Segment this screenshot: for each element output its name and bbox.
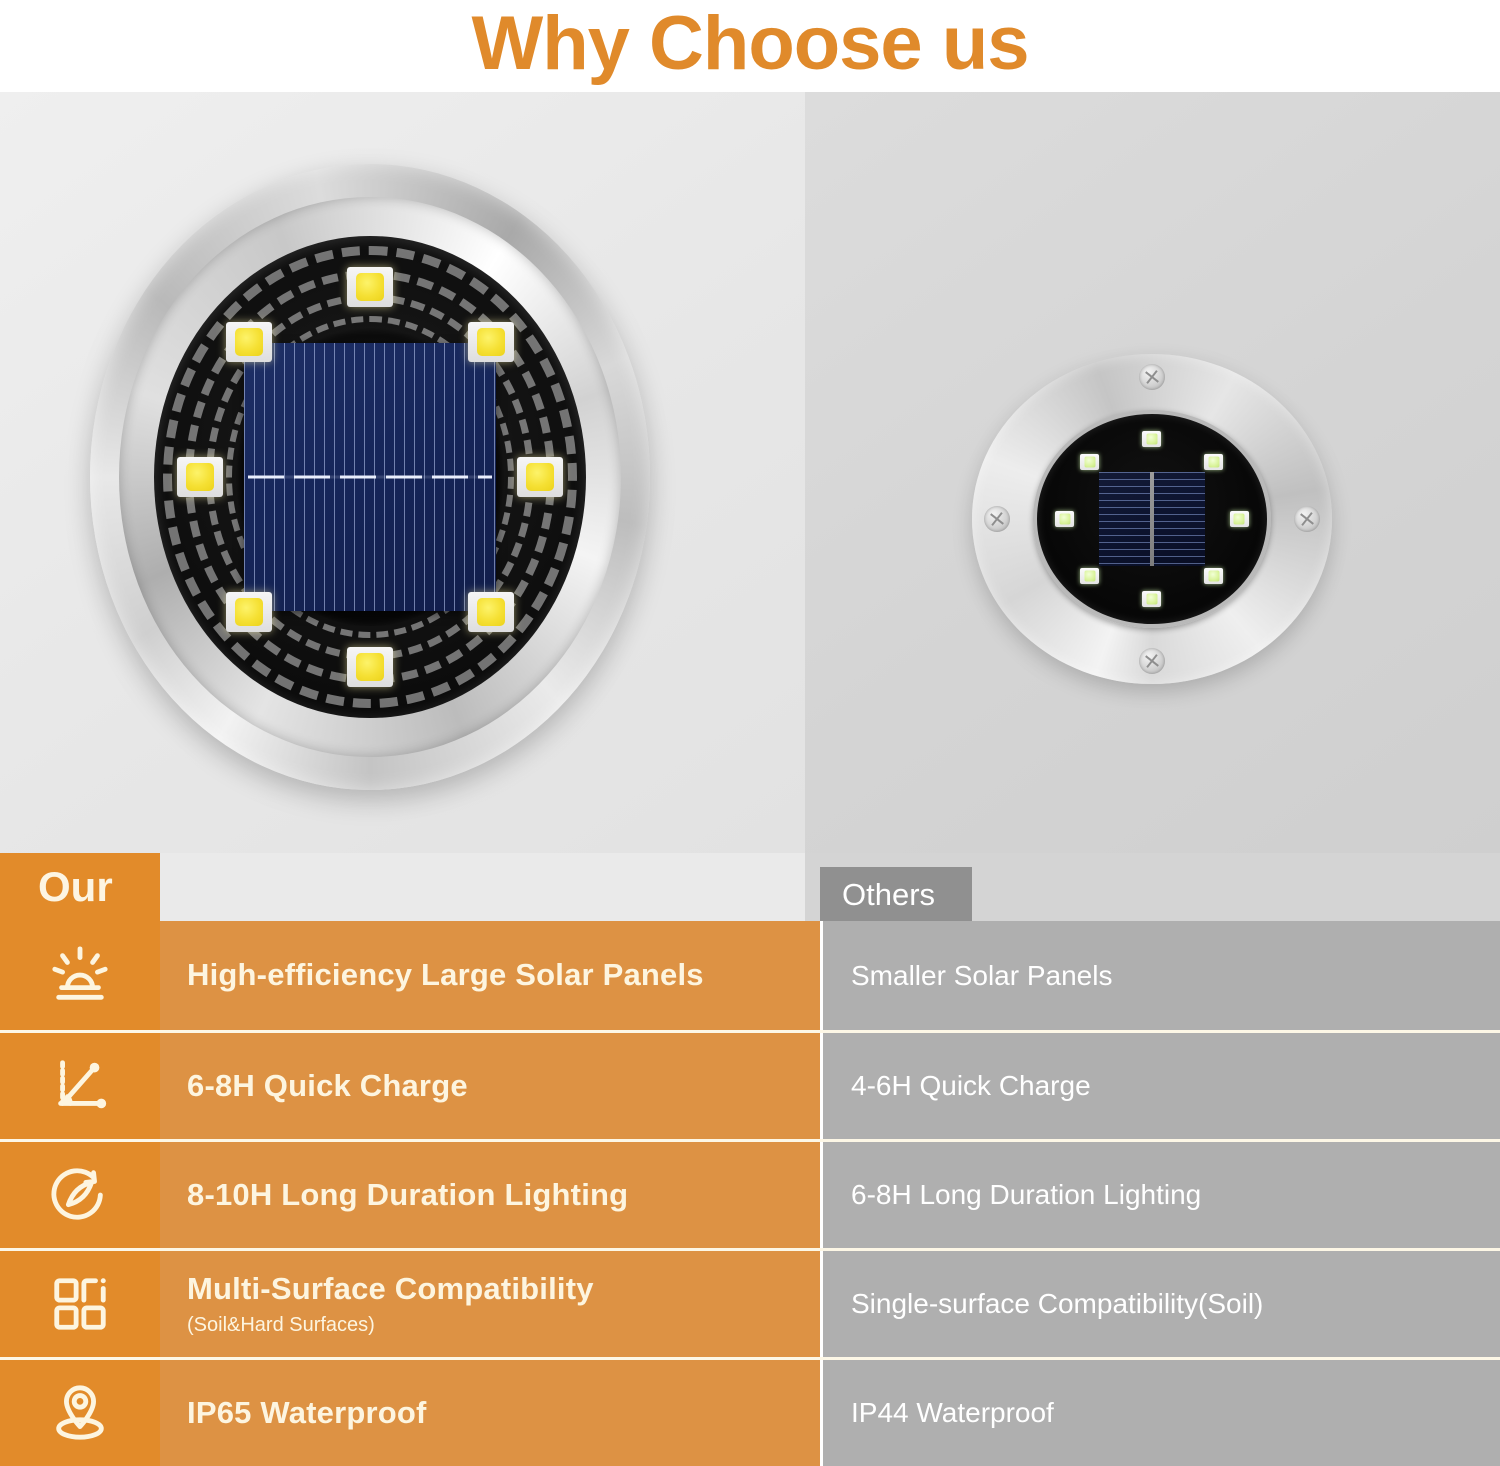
our-product-graphic: [90, 164, 650, 790]
our-feature-text: 8-10H Long Duration Lighting: [187, 1177, 820, 1214]
led-chip: [468, 322, 514, 362]
our-feature-text: High-efficiency Large Solar Panels: [187, 957, 820, 994]
header-spacer-right-b: [972, 853, 1500, 921]
others-cell: 4-6H Quick Charge: [820, 1033, 1500, 1139]
page-title: Why Choose us: [471, 6, 1028, 82]
location-pin-icon: [49, 1382, 111, 1444]
led-chip: [1080, 568, 1099, 584]
others-cell: Smaller Solar Panels: [820, 921, 1500, 1030]
others-feature-text: 6-8H Long Duration Lighting: [851, 1178, 1201, 1212]
others-cell: 6-8H Long Duration Lighting: [820, 1142, 1500, 1248]
our-cell: 8-10H Long Duration Lighting: [160, 1142, 820, 1248]
led-chip: [1230, 511, 1249, 527]
our-feature-text: Multi-Surface Compatibility: [187, 1271, 820, 1308]
others-column-header: Others: [820, 867, 972, 921]
others-cell: Single-surface Compatibility(Soil): [820, 1251, 1500, 1357]
solar-panel-busbar: [248, 475, 492, 478]
others-feature-text: Smaller Solar Panels: [851, 959, 1112, 993]
light-face: [154, 236, 585, 718]
our-column-header-label: Our: [38, 866, 113, 908]
table-row: 6-8H Quick Charge 4-6H Quick Charge: [0, 1030, 1500, 1139]
our-cell: Multi-Surface Compatibility (Soil&Hard S…: [160, 1251, 820, 1357]
our-cell: 6-8H Quick Charge: [160, 1033, 820, 1139]
led-chip: [177, 457, 223, 497]
led-chip: [347, 647, 393, 687]
row-icon-cell: [0, 1033, 160, 1139]
our-feature-subtext: (Soil&Hard Surfaces): [187, 1313, 820, 1337]
compass-leaf-icon: [49, 1164, 111, 1226]
led-chip: [1204, 454, 1223, 470]
led-chip: [1204, 568, 1223, 584]
light-face: [1033, 410, 1271, 628]
screw-icon: [984, 506, 1010, 532]
our-cell: IP65 Waterproof: [160, 1360, 820, 1466]
others-column-header-label: Others: [842, 879, 935, 910]
led-chip: [347, 267, 393, 307]
led-chip: [517, 457, 563, 497]
our-cell: High-efficiency Large Solar Panels: [160, 921, 820, 1030]
others-feature-text: 4-6H Quick Charge: [851, 1069, 1091, 1103]
our-column-header: Our: [0, 853, 160, 921]
others-feature-text: Single-surface Compatibility(Soil): [851, 1287, 1263, 1321]
led-chip: [1142, 591, 1161, 607]
infographic-page: Why Choose us: [0, 0, 1500, 1466]
solar-panel-small: [1099, 472, 1205, 566]
screw-icon: [1294, 506, 1320, 532]
row-icon-cell: [0, 921, 160, 1030]
table-row: Multi-Surface Compatibility (Soil&Hard S…: [0, 1248, 1500, 1357]
row-icon-cell: [0, 1142, 160, 1248]
solar-panel-busbar: [1150, 472, 1154, 566]
our-product-photo: [0, 92, 805, 853]
our-feature-text: 6-8H Quick Charge: [187, 1068, 820, 1105]
competitor-product-photo: [805, 92, 1500, 853]
others-cell: IP44 Waterproof: [820, 1360, 1500, 1466]
solar-panel-large: [244, 343, 496, 611]
screw-icon: [1139, 648, 1165, 674]
comparison-table: Our Others: [0, 853, 1500, 1466]
competitor-product-graphic: [972, 354, 1332, 684]
others-feature-text: IP44 Waterproof: [851, 1396, 1054, 1430]
sunrise-lamp-icon: [49, 945, 111, 1007]
table-row: High-efficiency Large Solar Panels Small…: [0, 921, 1500, 1030]
angle-protractor-icon: [49, 1055, 111, 1117]
led-chip: [1080, 454, 1099, 470]
table-row: 8-10H Long Duration Lighting 6-8H Long D…: [0, 1139, 1500, 1248]
hero-images: [0, 92, 1500, 853]
row-icon-cell: [0, 1360, 160, 1466]
led-chip: [226, 322, 272, 362]
grid-squares-icon: [49, 1273, 111, 1335]
comparison-rows: High-efficiency Large Solar Panels Small…: [0, 921, 1500, 1466]
led-chip: [1055, 511, 1074, 527]
led-chip: [226, 592, 272, 632]
led-chip: [468, 592, 514, 632]
led-chip: [1142, 431, 1161, 447]
page-title-bar: Why Choose us: [0, 0, 1500, 92]
screw-icon: [1139, 364, 1165, 390]
table-row: IP65 Waterproof IP44 Waterproof: [0, 1357, 1500, 1466]
our-feature-text: IP65 Waterproof: [187, 1395, 820, 1432]
header-spacer-right-a: [805, 853, 820, 921]
header-spacer-left: [160, 853, 805, 921]
row-icon-cell: [0, 1251, 160, 1357]
